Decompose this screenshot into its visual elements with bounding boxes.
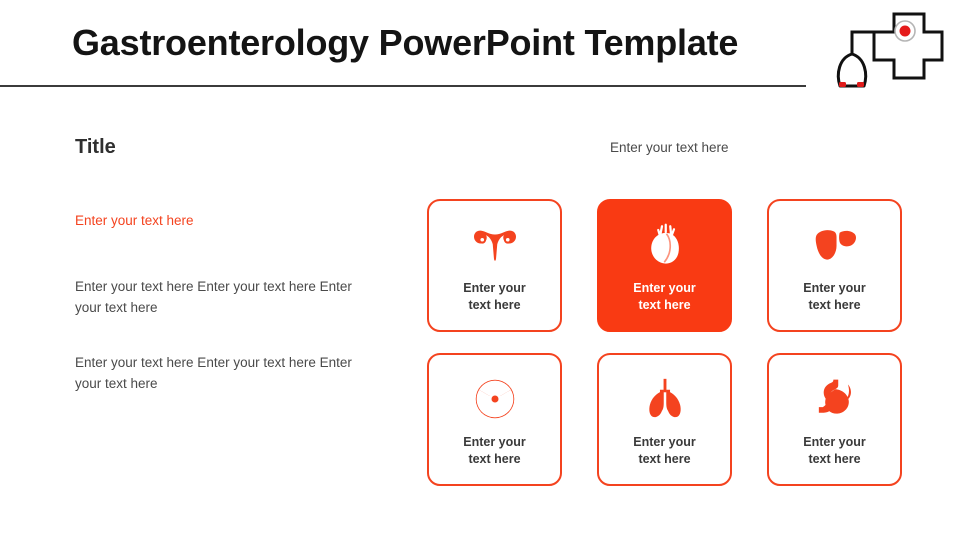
section-title: Title xyxy=(75,136,395,158)
slide-header: Gastroenterology PowerPoint Template xyxy=(0,0,960,100)
left-text-column: Title Enter your text here Enter your te… xyxy=(75,136,395,395)
icon-card-radiation[interactable]: Enter your text here xyxy=(427,353,562,486)
icon-card-lungs[interactable]: Enter your text here xyxy=(597,353,732,486)
page-title: Gastroenterology PowerPoint Template xyxy=(72,22,738,64)
icon-card-stomach[interactable]: Enter your text here xyxy=(767,353,902,486)
icon-card-liver[interactable]: Enter your text here xyxy=(767,199,902,332)
liver-icon xyxy=(811,222,859,268)
body-paragraph-2: Enter your text here Enter your text her… xyxy=(75,353,375,395)
radiation-icon xyxy=(471,376,519,422)
header-divider xyxy=(0,85,806,87)
anatomical-heart-icon xyxy=(641,222,689,268)
icon-card-label: Enter your text here xyxy=(463,280,526,314)
icon-card-label: Enter your text here xyxy=(803,280,866,314)
icon-card-label: Enter your text here xyxy=(633,280,696,314)
lungs-icon xyxy=(641,376,689,422)
icon-card-label: Enter your text here xyxy=(463,434,526,468)
icon-card-uterus[interactable]: Enter your text here xyxy=(427,199,562,332)
icon-card-label: Enter your text here xyxy=(633,434,696,468)
uterus-icon xyxy=(471,222,519,268)
icon-card-heart[interactable]: Enter your text here xyxy=(597,199,732,332)
stomach-icon xyxy=(811,376,859,422)
right-panel-caption: Enter your text here xyxy=(610,140,729,155)
icon-card-label: Enter your text here xyxy=(803,434,866,468)
stethoscope-medical-cross-logo-icon xyxy=(832,8,948,94)
icon-card-grid: Enter your text here Enter your text her… xyxy=(427,199,902,486)
accent-text: Enter your text here xyxy=(75,212,395,230)
body-paragraph-1: Enter your text here Enter your text her… xyxy=(75,277,375,319)
